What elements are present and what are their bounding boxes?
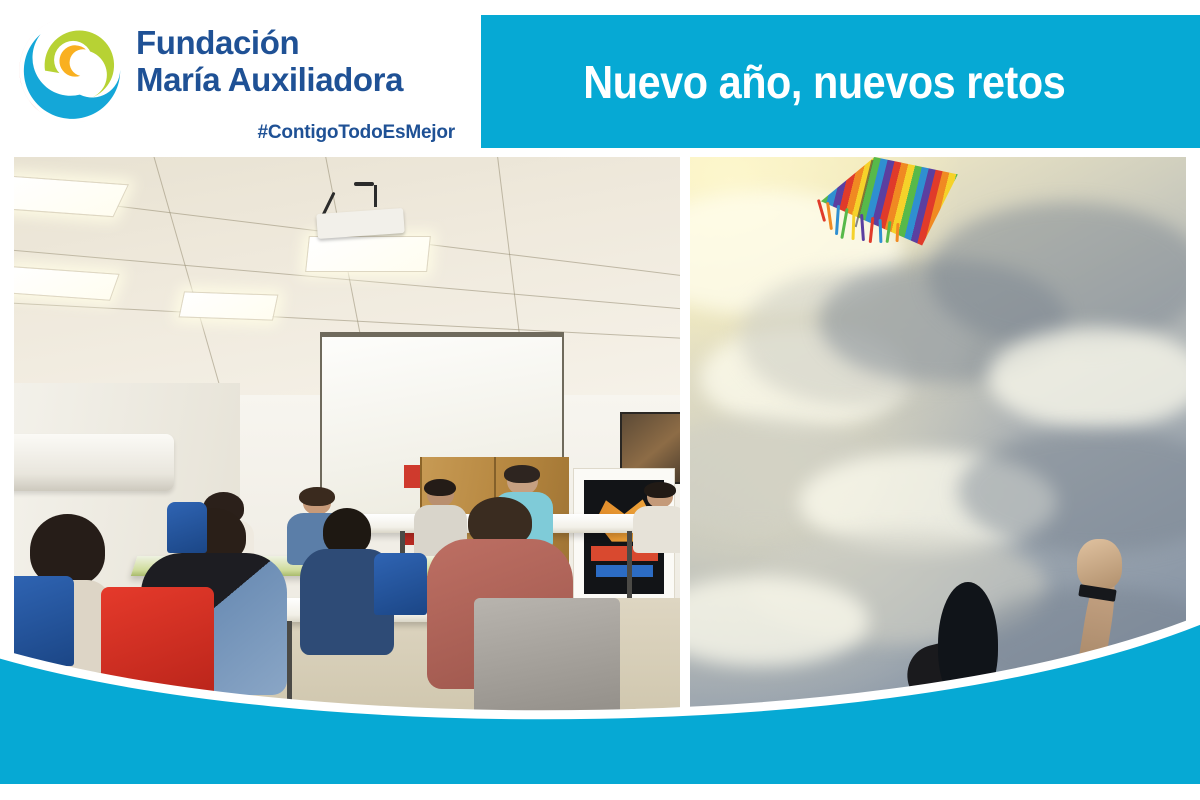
ceiling-lamp: [178, 291, 278, 320]
wall-poster-line-2: [596, 565, 654, 578]
brand-hashtag: #ContigoTodoEsMejor: [258, 122, 455, 144]
brand-name-line-2: María Auxiliadora: [136, 61, 403, 98]
person: [633, 485, 680, 553]
chair: [14, 576, 74, 667]
title-banner: Nuevo año, nuevos retos: [481, 15, 1200, 148]
kite-fringe: [818, 197, 928, 245]
air-conditioner: [14, 434, 174, 491]
chair: [374, 553, 427, 615]
kite-sky-photo: [690, 157, 1186, 723]
fundacion-maria-auxiliadora-logo-icon: [16, 14, 128, 126]
footer-white-strip: [0, 784, 1200, 800]
ceiling-lamp: [305, 236, 431, 272]
rainbow-kite: [809, 157, 958, 253]
brand-block: Fundación María Auxiliadora #ContigoTodo…: [0, 0, 481, 152]
poster-canvas: Fundación María Auxiliadora #ContigoTodo…: [0, 0, 1200, 800]
classroom-scene: [14, 157, 680, 723]
brand-name-line-1: Fundación: [136, 24, 299, 61]
projector-mount: [354, 182, 374, 186]
chair: [167, 502, 207, 553]
photo-strip: [0, 152, 1200, 724]
coat-on-chair: [474, 598, 621, 723]
chair: [101, 587, 214, 700]
projector-mount-post: [374, 185, 377, 207]
brand-name: Fundación María Auxiliadora: [136, 24, 403, 98]
classroom-photo: [14, 157, 680, 723]
person-head-silhouette: [938, 582, 998, 707]
header: Fundación María Auxiliadora #ContigoTodo…: [0, 0, 1200, 152]
raised-fist: [1077, 539, 1122, 590]
banner-title: Nuevo año, nuevos retos: [517, 55, 1164, 109]
sky-background: [690, 157, 1186, 723]
